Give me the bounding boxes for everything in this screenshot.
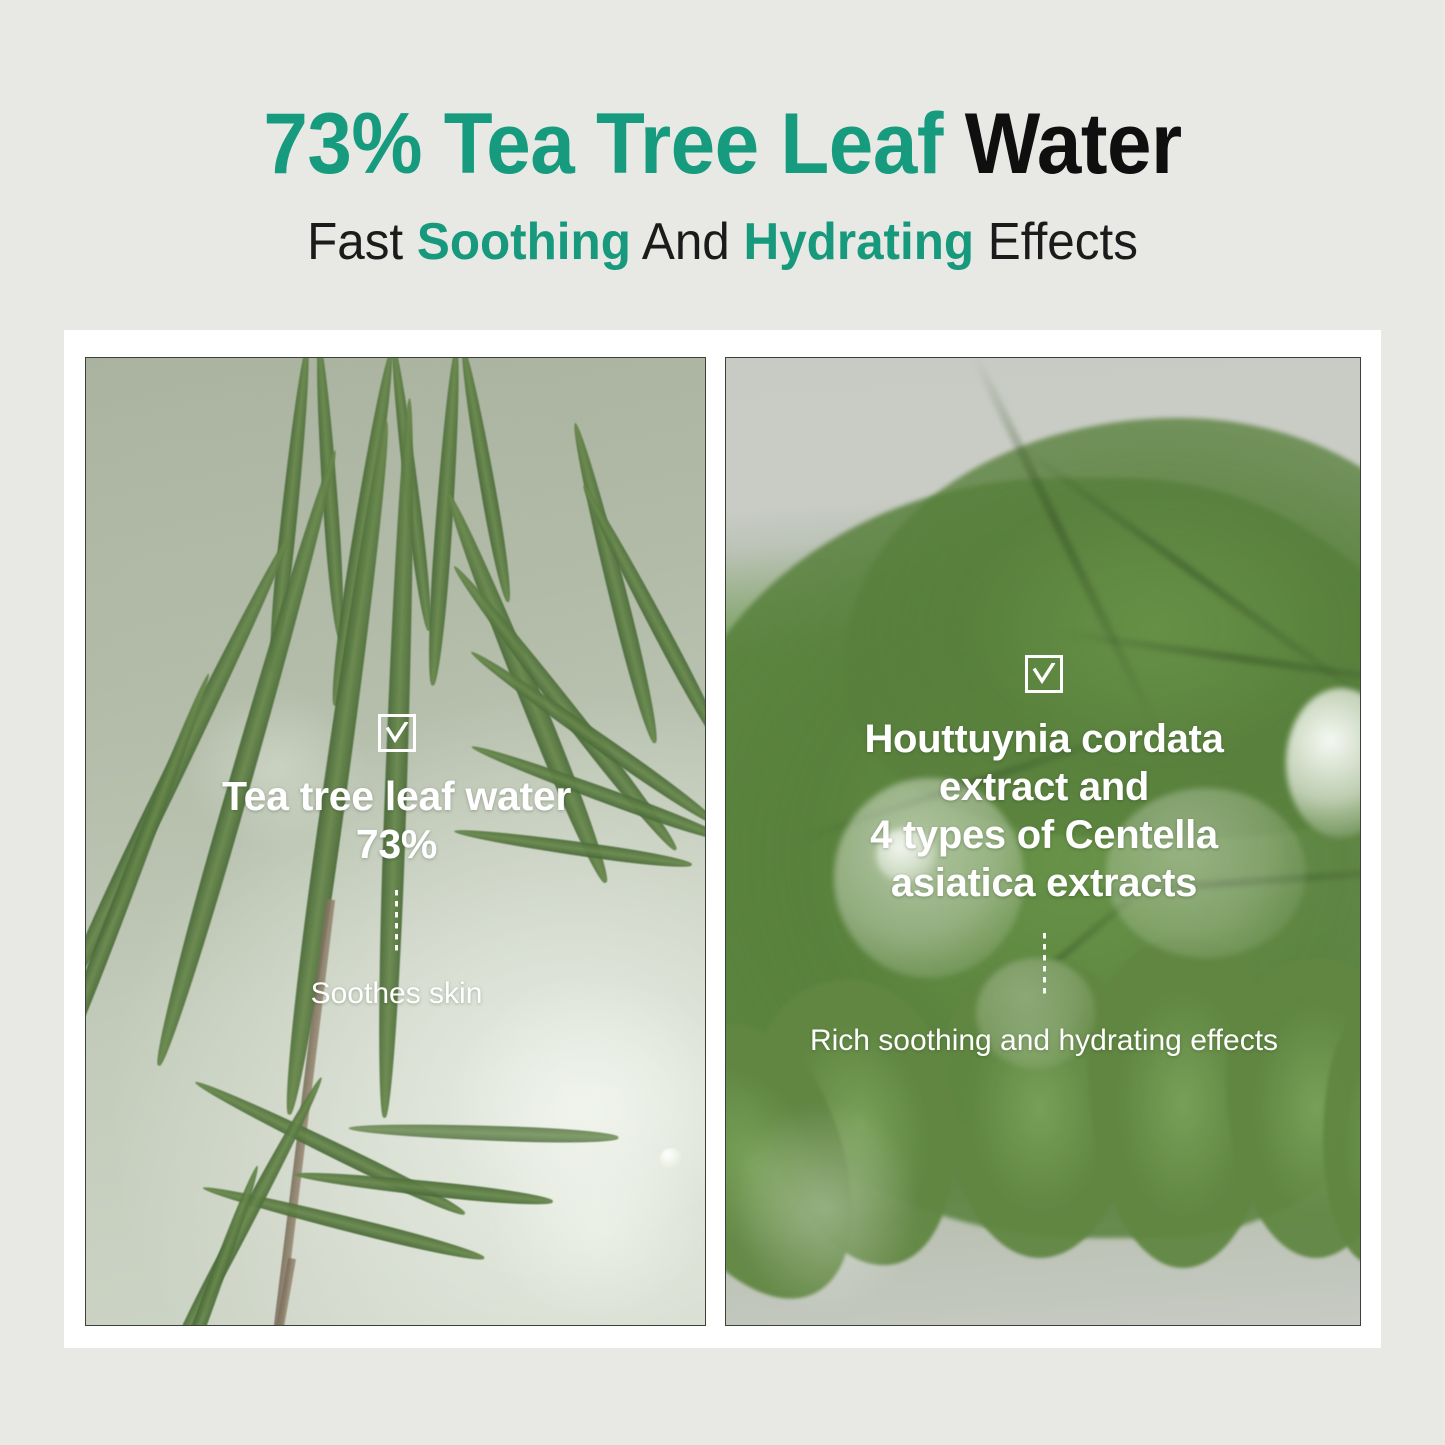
page-subtitle-part-2: Soothing (417, 213, 631, 271)
page-subtitle-part-1: Fast (307, 213, 417, 271)
page-title-dark: Water (965, 96, 1182, 192)
panel-houttuynia-centella-extracts: Houttuynia cordata extract and 4 types o… (725, 357, 1361, 1326)
tea-tree-photo: Tea tree leaf water 73% Soothes skin (86, 358, 705, 1325)
left-caption-group: Tea tree leaf water 73% Soothes skin (86, 714, 706, 1012)
product-infographic: 73% Tea Tree Leaf Water Fast Soothing An… (0, 0, 1445, 1445)
page-subtitle-part-4: Hydrating (744, 213, 975, 271)
checkbox-checked-icon (1025, 655, 1063, 693)
right-caption-subtext: Rich soothing and hydrating effects (726, 1023, 1361, 1059)
page-subtitle: Fast Soothing And Hydrating Effects (36, 212, 1409, 272)
left-caption-subtext: Soothes skin (86, 976, 706, 1012)
right-caption-title: Houttuynia cordata extract and 4 types o… (726, 715, 1361, 907)
right-caption-group: Houttuynia cordata extract and 4 types o… (726, 655, 1361, 1059)
header-block: 73% Tea Tree Leaf Water Fast Soothing An… (0, 96, 1445, 272)
page-subtitle-part-3: And (631, 213, 744, 271)
left-caption-title: Tea tree leaf water 73% (86, 772, 706, 868)
page-title-accent: 73% Tea Tree Leaf (263, 96, 964, 192)
checkbox-checked-icon (378, 714, 416, 752)
dotted-divider (1043, 933, 1046, 997)
centella-leaf-photo: Houttuynia cordata extract and 4 types o… (726, 358, 1360, 1325)
panel-tea-tree-leaf-water: Tea tree leaf water 73% Soothes skin (85, 357, 706, 1326)
dotted-divider (395, 890, 398, 954)
page-title: 73% Tea Tree Leaf Water (51, 96, 1395, 192)
page-subtitle-part-5: Effects (974, 213, 1138, 271)
